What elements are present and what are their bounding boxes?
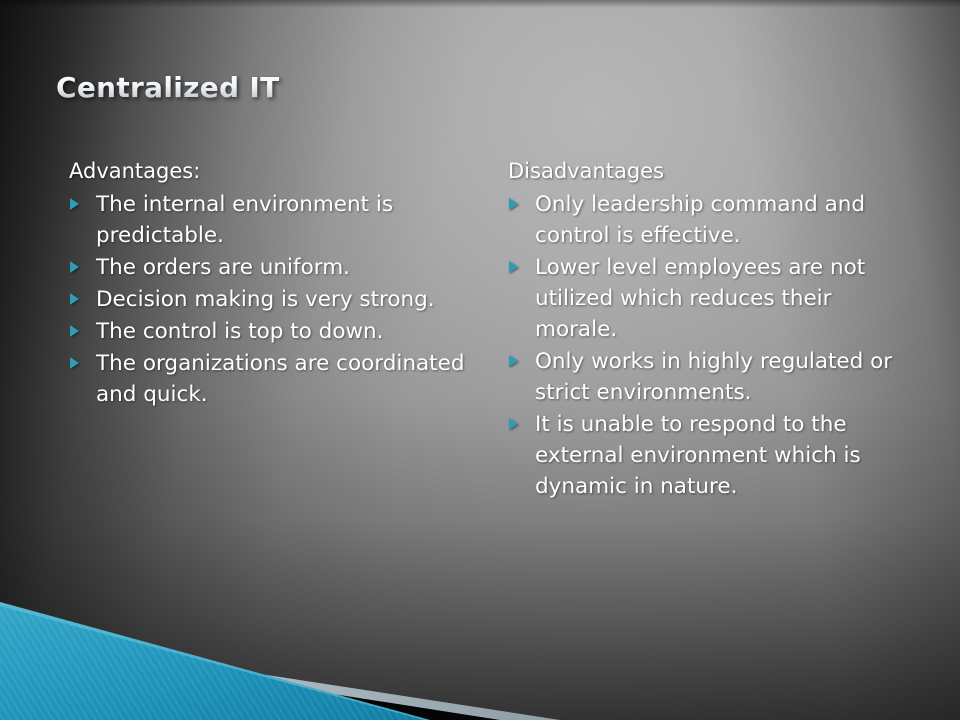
list-item-text: Decision making is very strong. bbox=[96, 287, 435, 312]
list-item: Decision making is very strong. bbox=[66, 284, 472, 315]
list-item-text: The internal environment is predictable. bbox=[96, 192, 393, 248]
slide-background-top-edge bbox=[0, 0, 960, 8]
disadvantages-heading: Disadvantages bbox=[508, 158, 905, 185]
triangle-bullet-icon bbox=[70, 198, 79, 210]
triangle-bullet-icon bbox=[70, 357, 79, 369]
list-item-text: It is unable to respond to the external … bbox=[535, 412, 861, 499]
list-item: Only works in highly regulated or strict… bbox=[505, 346, 905, 408]
list-item-text: The orders are uniform. bbox=[96, 255, 350, 280]
list-item: The orders are uniform. bbox=[66, 252, 472, 283]
disadvantages-list: Only leadership command and control is e… bbox=[505, 189, 905, 502]
angled-corner-graphic bbox=[0, 580, 960, 720]
list-item: The organizations are coordinated and qu… bbox=[66, 348, 472, 410]
list-item-text: The organizations are coordinated and qu… bbox=[96, 351, 464, 407]
list-item: The control is top to down. bbox=[66, 316, 472, 347]
advantages-list: The internal environment is predictable.… bbox=[66, 189, 472, 410]
list-item: Only leadership command and control is e… bbox=[505, 189, 905, 251]
list-item: Lower level employees are not utilized w… bbox=[505, 252, 905, 345]
slide-canvas: Centralized IT Advantages: The internal … bbox=[0, 0, 960, 720]
list-item-text: The control is top to down. bbox=[96, 319, 384, 344]
list-item: It is unable to respond to the external … bbox=[505, 409, 905, 502]
triangle-bullet-icon bbox=[509, 418, 518, 430]
triangle-bullet-icon bbox=[509, 261, 518, 273]
triangle-bullet-icon bbox=[509, 198, 518, 210]
slide-title: Centralized IT bbox=[56, 71, 280, 104]
list-item-text: Only works in highly regulated or strict… bbox=[535, 349, 892, 405]
triangle-bullet-icon bbox=[509, 355, 518, 367]
list-item: The internal environment is predictable. bbox=[66, 189, 472, 251]
disadvantages-column: Disadvantages Only leadership command an… bbox=[505, 158, 905, 503]
advantages-heading: Advantages: bbox=[69, 158, 472, 185]
triangle-bullet-icon bbox=[70, 293, 79, 305]
list-item-text: Only leadership command and control is e… bbox=[535, 192, 865, 248]
triangle-bullet-icon bbox=[70, 261, 79, 273]
advantages-column: Advantages: The internal environment is … bbox=[66, 158, 472, 411]
list-item-text: Lower level employees are not utilized w… bbox=[535, 255, 865, 342]
triangle-bullet-icon bbox=[70, 325, 79, 337]
